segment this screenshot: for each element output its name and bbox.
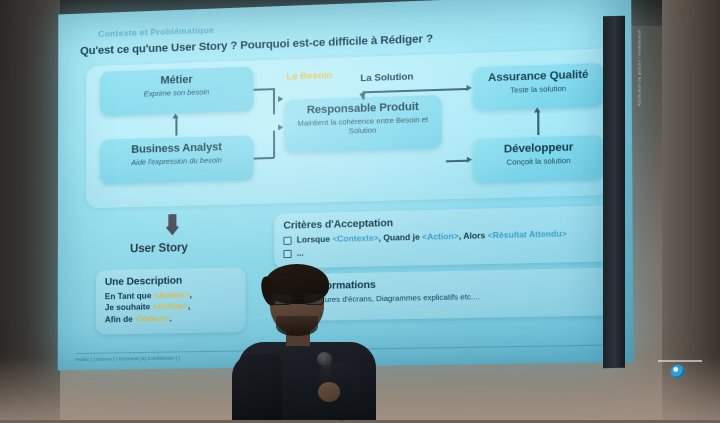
crit-ph-action: <Action> bbox=[422, 232, 459, 242]
arrow-rp-to-dev-line bbox=[446, 160, 467, 162]
checkbox-icon[interactable] bbox=[283, 237, 291, 245]
desc-l2-b: , bbox=[188, 302, 190, 311]
node-metier: Métier Exprime son besoin bbox=[100, 67, 254, 116]
crit-c: , Alors bbox=[459, 231, 488, 241]
desc-l3-b: . bbox=[169, 314, 171, 323]
desc-l1-a: En Tant que bbox=[105, 291, 154, 301]
flag-la-solution: La Solution bbox=[360, 71, 413, 84]
wall-trim bbox=[658, 360, 702, 362]
description-title: Une Description bbox=[105, 274, 237, 288]
node-rp-subtitle: Maintient la cohérence entre Besoin et S… bbox=[290, 115, 435, 137]
arrow-metier-right-line bbox=[254, 88, 274, 90]
screen-edge-strip: Application de gestion / modélisation bbox=[603, 16, 625, 369]
arrow-rp-top-head bbox=[359, 93, 365, 98]
desc-l2-a: Je souhaite bbox=[105, 303, 153, 313]
brand-logo-icon bbox=[671, 365, 684, 378]
user-story-label: User Story bbox=[130, 242, 188, 255]
node-responsable-produit: Responsable Produit Maintient la cohéren… bbox=[284, 95, 441, 153]
arrow-rp-to-aq-line bbox=[362, 88, 466, 93]
presenter-hand bbox=[318, 382, 340, 402]
presenter-silhouette bbox=[232, 258, 382, 420]
arrow-to-rp-head-top bbox=[278, 96, 283, 102]
arrow-ba-to-metier-head bbox=[172, 113, 178, 118]
desc-l3-a: Afin de bbox=[105, 314, 135, 324]
node-assurance-qualite: Assurance Qualité Teste la solution bbox=[473, 63, 604, 110]
desc-l2-placeholder: <Action> bbox=[152, 302, 187, 312]
arrow-dev-to-aq-line bbox=[537, 110, 539, 135]
desc-l1-b: , bbox=[190, 290, 192, 299]
node-aq-title: Assurance Qualité bbox=[479, 69, 597, 85]
arrow-ba-right-up bbox=[273, 131, 275, 158]
side-tab-label: Application de gestion / modélisation bbox=[637, 8, 642, 128]
node-dev-subtitle: Conçoit la solution bbox=[479, 156, 598, 168]
arrow-to-rp-head-bottom bbox=[278, 124, 283, 130]
arrow-rp-to-dev-head bbox=[467, 156, 472, 162]
flag-le-besoin: Le Besoin bbox=[286, 70, 332, 83]
node-aq-subtitle: Teste la solution bbox=[479, 84, 597, 97]
panel-description: Une Description En Tant que <Acteur>, Je… bbox=[96, 267, 246, 335]
flow-diagram: Le Besoin La Solution Métier Exprime son… bbox=[86, 48, 615, 208]
presenter-glasses bbox=[272, 294, 324, 305]
crit-b: , Quand je bbox=[379, 233, 423, 243]
description-line-3: Afin de <Valeur>. bbox=[105, 312, 237, 326]
desc-l3-placeholder: <Valeur> bbox=[135, 314, 169, 324]
node-developpeur: Développeur Conçoit la solution bbox=[473, 135, 604, 182]
arrow-ba-right-line bbox=[254, 157, 274, 159]
node-business-analyst: Business Analyst Aide l'expression du be… bbox=[100, 135, 254, 184]
node-dev-title: Développeur bbox=[479, 142, 598, 158]
down-arrow-icon bbox=[164, 214, 180, 237]
crit-ph-resultat: <Résultat Attendu> bbox=[488, 229, 567, 240]
arrow-rp-to-aq-head bbox=[467, 85, 472, 91]
presenter-shoulder bbox=[232, 354, 282, 420]
crit-a: Lorsque bbox=[297, 235, 333, 245]
arrow-metier-right-down bbox=[273, 88, 275, 114]
node-ba-subtitle: Aide l'expression du besoin bbox=[106, 156, 248, 169]
crit-ph-contexte: <Contexte> bbox=[332, 234, 378, 244]
node-metier-subtitle: Exprime son besoin bbox=[106, 87, 247, 100]
presenter-beard bbox=[276, 316, 318, 336]
desc-l1-placeholder: <Acteur> bbox=[154, 291, 190, 301]
arrow-dev-to-aq-head bbox=[534, 107, 540, 112]
